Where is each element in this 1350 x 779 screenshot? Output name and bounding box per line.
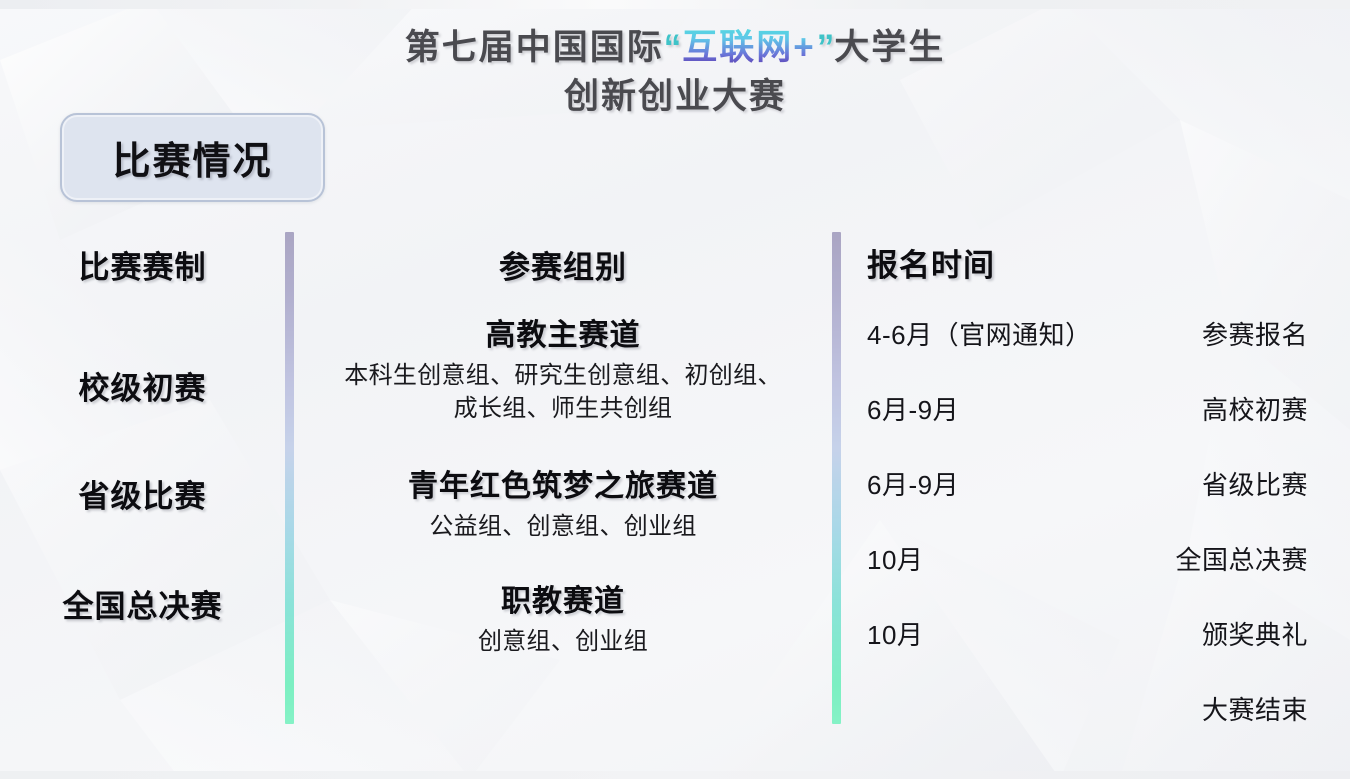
schedule-row: 4-6月（官网通知） 参赛报名 <box>841 296 1350 371</box>
track-name: 青年红色筑梦之旅赛道 <box>294 461 832 505</box>
schedule-list: 4-6月（官网通知） 参赛报名 6月-9月 高校初赛 6月-9月 省级比赛 10… <box>841 296 1350 746</box>
track-vocational-education: 职教赛道 创意组、创业组 <box>294 576 832 659</box>
schedule-event: 高校初赛 <box>1202 390 1308 427</box>
stage-item-school-preliminary: 校级初赛 <box>0 363 285 408</box>
schedule-row: 6月-9月 省级比赛 <box>841 446 1350 521</box>
schedule-event: 省级比赛 <box>1202 465 1308 502</box>
schedule-date: 10月 <box>867 615 923 652</box>
schedule-date: 10月 <box>867 540 923 577</box>
schedule-event: 大赛结束 <box>1202 690 1308 727</box>
schedule-event: 全国总决赛 <box>1175 540 1308 577</box>
track-subgroups-line-2: 成长组、师生共创组 <box>294 393 832 426</box>
track-subgroups-line-1: 创意组、创业组 <box>294 626 832 659</box>
column-header-competition-system: 比赛赛制 <box>0 242 285 287</box>
column-competition-system: 比赛赛制 校级初赛 省级比赛 全国总决赛 <box>0 228 285 728</box>
top-edge-strip <box>0 0 1350 9</box>
column-registration-schedule: 报名时间 4-6月（官网通知） 参赛报名 6月-9月 高校初赛 6月-9月 省级… <box>841 228 1350 728</box>
quote-close-mark: ” <box>817 28 835 67</box>
section-badge: 比赛情况 <box>60 113 325 202</box>
title-line-1: 第七届中国国际“互联网+”大学生 <box>0 26 1350 69</box>
schedule-row: 6月-9月 高校初赛 <box>841 371 1350 446</box>
schedule-row: 大赛结束 <box>841 671 1350 746</box>
track-higher-education: 高教主赛道 本科生创意组、研究生创意组、初创组、 成长组、师生共创组 <box>294 310 832 425</box>
schedule-date: 6月-9月 <box>867 390 959 427</box>
schedule-row: 10月 全国总决赛 <box>841 521 1350 596</box>
column-header-participation-groups: 参赛组别 <box>294 242 832 287</box>
title-suffix: 大学生 <box>834 28 945 67</box>
track-subgroups: 创意组、创业组 <box>294 626 832 659</box>
track-subgroups-line-1: 本科生创意组、研究生创意组、初创组、 <box>294 360 832 393</box>
bottom-edge-strip <box>0 771 1350 779</box>
schedule-event: 参赛报名 <box>1202 315 1308 352</box>
track-subgroups: 本科生创意组、研究生创意组、初创组、 成长组、师生共创组 <box>294 360 832 425</box>
track-name: 高教主赛道 <box>294 310 832 354</box>
track-name: 职教赛道 <box>294 576 832 620</box>
column-participation-groups: 参赛组别 高教主赛道 本科生创意组、研究生创意组、初创组、 成长组、师生共创组 … <box>294 228 832 728</box>
title-highlight-internet-plus: 互联网+ <box>681 28 816 67</box>
title-prefix: 第七届中国国际 <box>405 28 664 67</box>
stage-item-national-final: 全国总决赛 <box>0 581 285 626</box>
slide-title: 第七届中国国际“互联网+”大学生 创新创业大赛 <box>0 26 1350 119</box>
column-divider-left <box>285 232 294 724</box>
schedule-date: 6月-9月 <box>867 465 959 502</box>
track-subgroups-line-1: 公益组、创意组、创业组 <box>294 511 832 544</box>
stage-item-provincial-contest: 省级比赛 <box>0 471 285 516</box>
schedule-date: 4-6月（官网通知） <box>867 315 1092 352</box>
schedule-event: 颁奖典礼 <box>1202 615 1308 652</box>
content-area: 比赛赛制 校级初赛 省级比赛 全国总决赛 参赛组别 高教主赛道 本科生创意组、研… <box>0 228 1350 728</box>
section-badge-label: 比赛情况 <box>112 130 272 185</box>
column-header-registration-time: 报名时间 <box>867 240 995 285</box>
column-divider-right <box>832 232 841 724</box>
slide-canvas: 第七届中国国际“互联网+”大学生 创新创业大赛 比赛情况 比赛赛制 校级初赛 省… <box>0 0 1350 779</box>
track-youth-red-dream: 青年红色筑梦之旅赛道 公益组、创意组、创业组 <box>294 461 832 544</box>
quote-open-mark: “ <box>664 28 682 67</box>
track-subgroups: 公益组、创意组、创业组 <box>294 511 832 544</box>
schedule-row: 10月 颁奖典礼 <box>841 596 1350 671</box>
